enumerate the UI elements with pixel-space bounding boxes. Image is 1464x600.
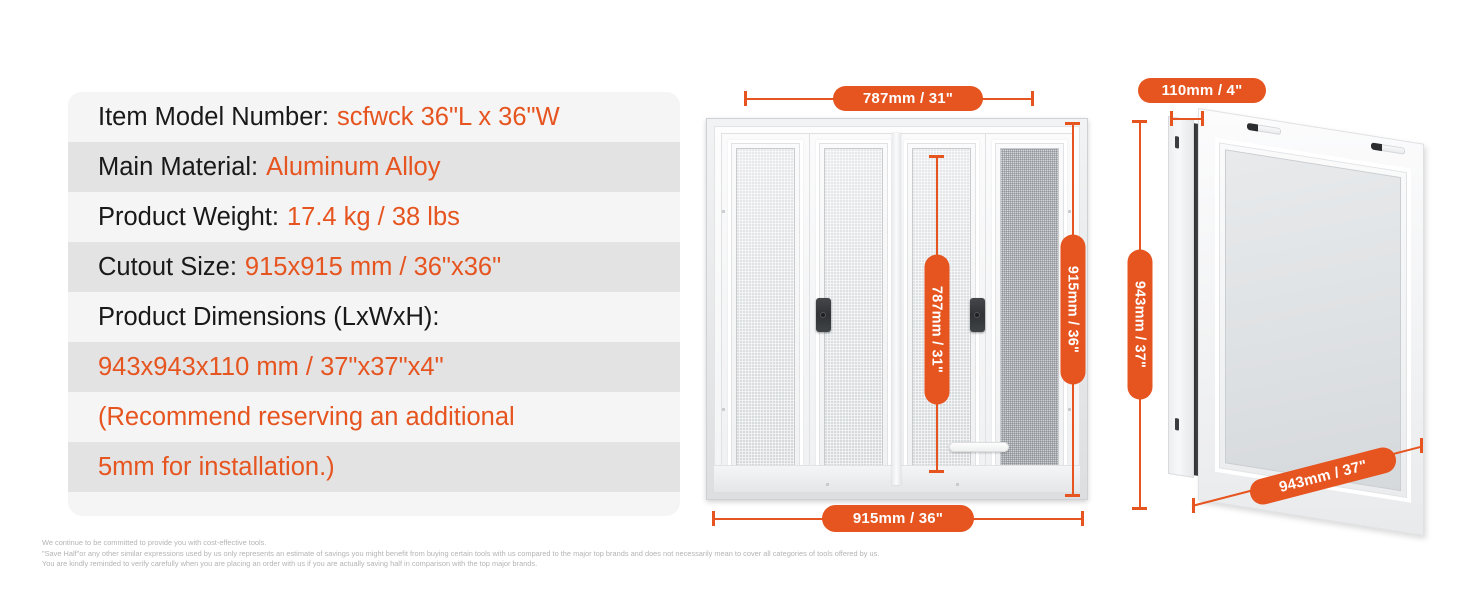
dimension-end-cap [1170,111,1173,126]
spec-row: Product Weight: 17.4 kg / 38 lbs [68,192,680,242]
outer-height-dimension-label: 915mm / 36" [1061,235,1086,385]
spec-label: Item Model Number: [98,103,329,132]
spec-value: 5mm for installation.) [98,453,335,482]
spec-label: Cutout Size: [98,253,237,282]
window-depth-edge [1168,116,1194,478]
spec-value: 943x943x110 mm / 37"x37"x4" [98,353,444,382]
dimension-end-cap [1132,120,1147,123]
dimension-end-cap [1065,122,1080,125]
spec-row: 5mm for installation.) [68,442,680,492]
disclaimer-line: "Save Half"or any other similar expressi… [42,549,1422,560]
dimension-end-cap [1420,438,1423,453]
spec-row: (Recommend reserving an additional [68,392,680,442]
top-width-dimension-label: 787mm / 31" [833,86,983,111]
dimension-end-cap [1201,111,1204,126]
frame-screw [1068,210,1071,213]
spec-value: scfwck 36"L x 36"W [337,103,560,132]
spec-row: Item Model Number: scfwck 36"L x 36"W [68,92,680,142]
frame-screw [956,483,959,486]
depth-dimension-label: 110mm / 4" [1138,78,1266,103]
sash-handle-right [970,298,985,332]
spec-label: Product Weight: [98,203,279,232]
side-height-dimension-label: 943mm / 37" [1128,250,1153,400]
spec-row: 943x943x110 mm / 37"x37"x4" [68,342,680,392]
frame-screw [1068,408,1071,411]
frame-screw [722,408,725,411]
depth-dimension-line [1170,118,1204,120]
frame-screw [722,210,725,213]
dimension-end-cap [1192,498,1195,513]
spec-value: 17.4 kg / 38 lbs [287,203,460,232]
top-fitting-hardware [1371,142,1405,154]
spec-row: Main Material: Aluminum Alloy [68,142,680,192]
spec-card: Item Model Number: scfwck 36"L x 36"W Ma… [68,92,680,516]
dimension-end-cap [1031,91,1034,106]
frame-screw [826,483,829,486]
dimension-end-cap [929,155,944,158]
spec-value: Aluminum Alloy [266,153,440,182]
frosted-glass-panel [736,148,795,470]
disclaimer-text: We continue to be committed to provide y… [42,538,1422,570]
dimension-end-cap [1081,511,1084,526]
bottom-pull-bar [949,442,1009,452]
spec-value: 915x915 mm / 36"x36" [245,253,501,282]
spec-value: (Recommend reserving an additional [98,403,515,432]
dimension-end-cap [1065,494,1080,497]
spec-row: Cutout Size: 915x915 mm / 36"x36" [68,242,680,292]
frosted-glass-panel [824,148,883,470]
spec-label: Product Dimensions (LxWxH): [98,303,440,332]
spec-label: Main Material: [98,153,258,182]
edge-hardware [1175,418,1179,431]
top-fitting-hardware [1247,123,1281,135]
spec-row: Product Dimensions (LxWxH): [68,292,680,342]
mesh-screen-panel [1000,148,1059,470]
side-glass-panel [1225,149,1401,491]
dimension-end-cap [1132,507,1147,510]
edge-hardware [1175,136,1179,149]
bottom-width-dimension-label: 915mm / 36" [822,505,974,532]
dimension-end-cap [712,511,715,526]
disclaimer-line: We continue to be committed to provide y… [42,538,1422,549]
center-mullion [892,133,901,485]
sash-handle-left [816,298,831,332]
front-view-window-illustration [706,118,1088,500]
window-panel-1 [721,133,810,485]
dimension-end-cap [929,470,944,473]
disclaimer-line: You are kindly reminded to verify carefu… [42,559,1422,570]
dimension-end-cap [744,91,747,106]
inner-height-dimension-label: 787mm / 31" [925,255,950,405]
